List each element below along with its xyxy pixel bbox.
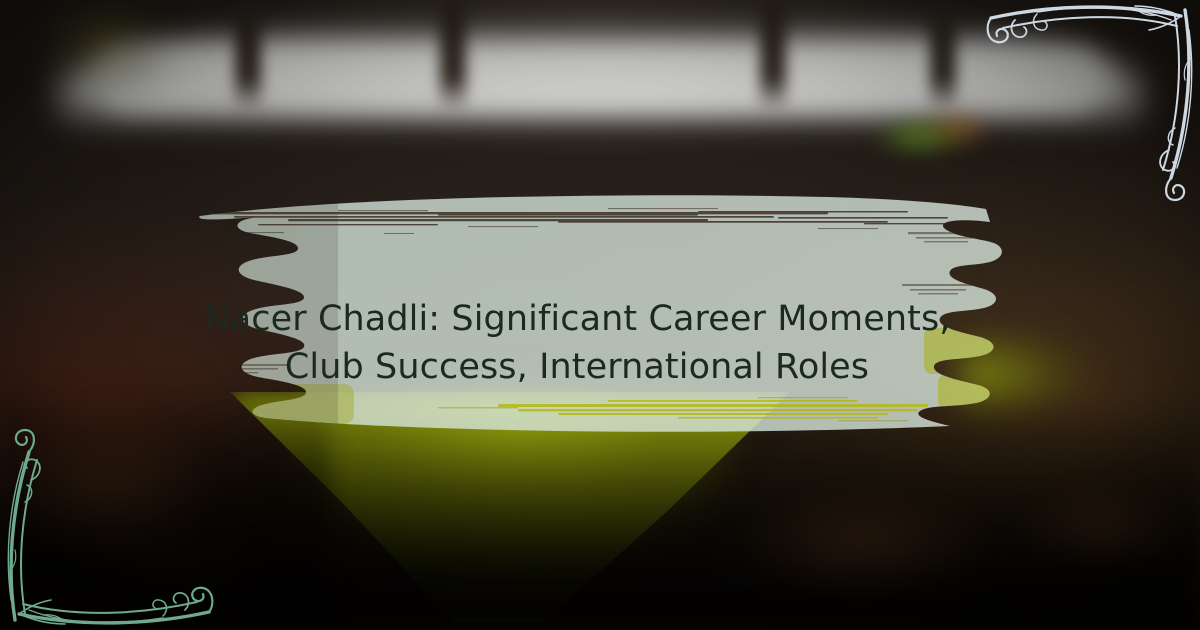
title-banner: Nacer Chadli: Significant Career Moments… — [138, 188, 1016, 436]
title-line-1: Nacer Chadli: Significant Career Moments… — [196, 295, 958, 343]
title-line-2: Club Success, International Roles — [196, 343, 958, 391]
banner-canvas: Nacer Chadli: Significant Career Moments… — [0, 0, 1200, 630]
page-title: Nacer Chadli: Significant Career Moments… — [138, 295, 1016, 391]
